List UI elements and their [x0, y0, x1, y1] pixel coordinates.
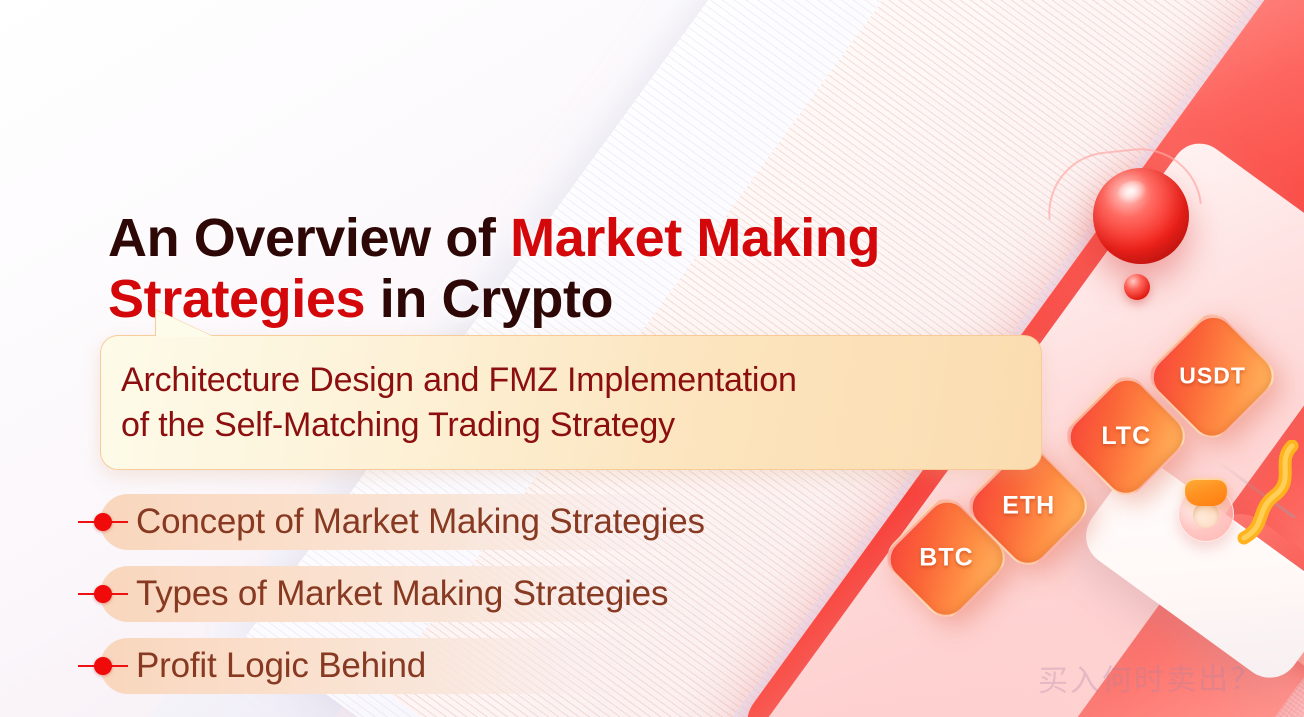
list-item: Types of Market Making Strategies — [78, 566, 705, 622]
title-highlight-2: Strategies — [108, 269, 365, 329]
title-part-1: An Overview of — [108, 208, 510, 268]
list-item: Concept of Market Making Strategies — [78, 494, 705, 550]
list-item: Profit Logic Behind — [78, 638, 705, 694]
subtitle-line-2: of the Self-Matching Trading Strategy — [121, 406, 675, 444]
slide-content: An Overview of Market MakingStrategies i… — [0, 0, 1304, 717]
slide-canvas: BTC ETH LTC USDT 买入何时卖出？ An Overview of … — [0, 0, 1304, 717]
bullet-label: Profit Logic Behind — [136, 638, 426, 694]
agenda-list: Concept of Market Making Strategies Type… — [78, 494, 705, 710]
bullet-label: Types of Market Making Strategies — [136, 566, 668, 622]
bullet-dot-icon — [94, 585, 112, 603]
subtitle-line-1: Architecture Design and FMZ Implementati… — [121, 361, 797, 399]
page-title: An Overview of Market MakingStrategies i… — [108, 208, 1108, 330]
title-part-2: in Crypto — [365, 269, 613, 329]
callout-tail — [156, 310, 214, 337]
bullet-dot-icon — [94, 657, 112, 675]
subtitle-text: Architecture Design and FMZ Implementati… — [121, 358, 1026, 448]
bullet-label: Concept of Market Making Strategies — [136, 494, 705, 550]
title-highlight-1: Market Making — [510, 208, 880, 268]
bullet-dot-icon — [94, 513, 112, 531]
subtitle-callout: Architecture Design and FMZ Implementati… — [100, 335, 1042, 470]
